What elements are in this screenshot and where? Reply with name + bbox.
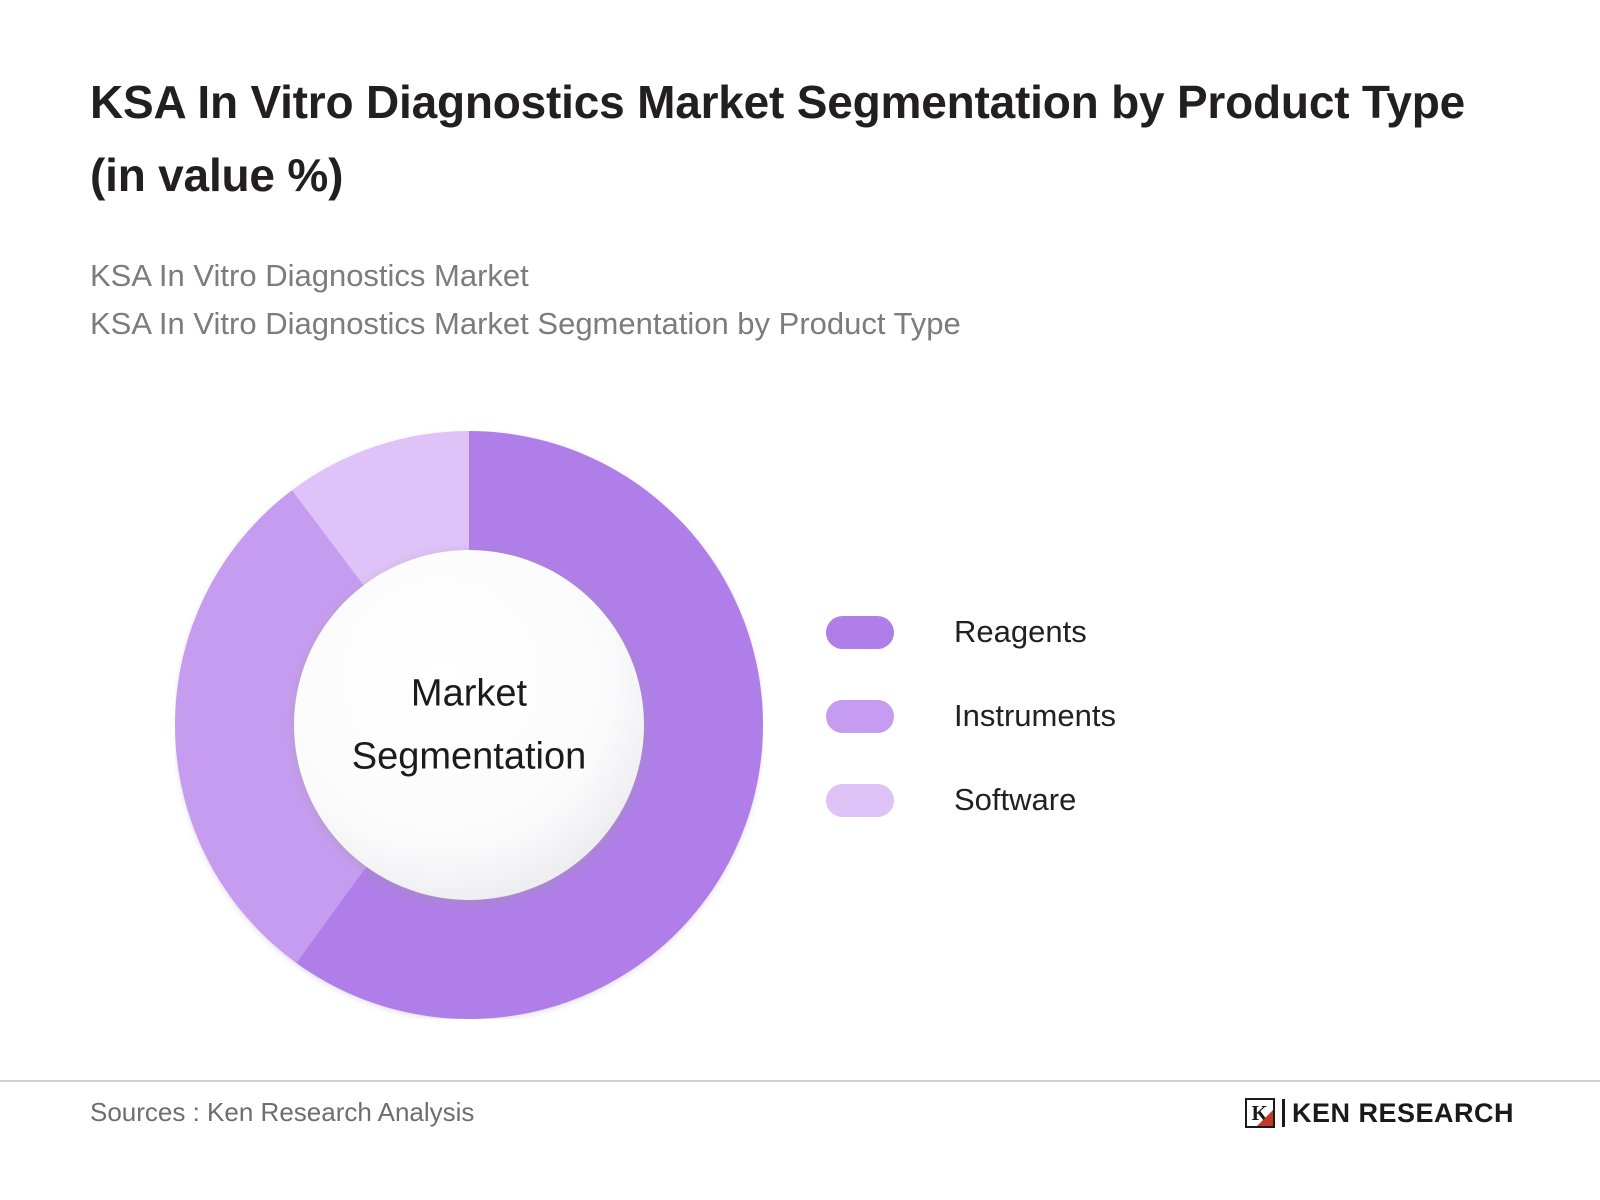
slide-root: KSA In Vitro Diagnostics Market Segmenta… [0,0,1600,1200]
legend-item-instruments[interactable]: Instruments [826,674,1286,758]
subtitle-line-1: KSA In Vitro Diagnostics Market [90,252,1390,300]
legend-swatch-software [826,784,894,817]
footer-divider [0,1080,1600,1082]
donut-svg [175,431,763,1019]
legend-swatch-reagents [826,616,894,649]
page-title: KSA In Vitro Diagnostics Market Segmenta… [90,66,1510,211]
legend-item-software[interactable]: Software [826,758,1286,842]
legend-item-reagents[interactable]: Reagents [826,590,1286,674]
source-note: Sources : Ken Research Analysis [90,1097,474,1128]
legend-label: Instruments [954,698,1116,734]
logo-k-mark-icon: K [1245,1098,1275,1128]
logo-wordmark: KEN RESEARCH [1292,1098,1514,1129]
legend-swatch-instruments [826,700,894,733]
logo-divider-icon [1282,1099,1285,1127]
subtitle-line-2: KSA In Vitro Diagnostics Market Segmenta… [90,300,1390,348]
subtitle-block: KSA In Vitro Diagnostics Market KSA In V… [90,252,1390,348]
donut-hole [294,550,644,900]
donut-chart: Market Segmentation [175,431,763,1019]
logo-triangle-icon [1257,1110,1273,1126]
chart-area: Market Segmentation ReagentsInstrumentsS… [0,380,1600,1060]
chart-legend: ReagentsInstrumentsSoftware [826,590,1286,842]
legend-label: Software [954,782,1076,818]
legend-label: Reagents [954,614,1087,650]
ken-research-logo: K KEN RESEARCH [1245,1096,1514,1130]
